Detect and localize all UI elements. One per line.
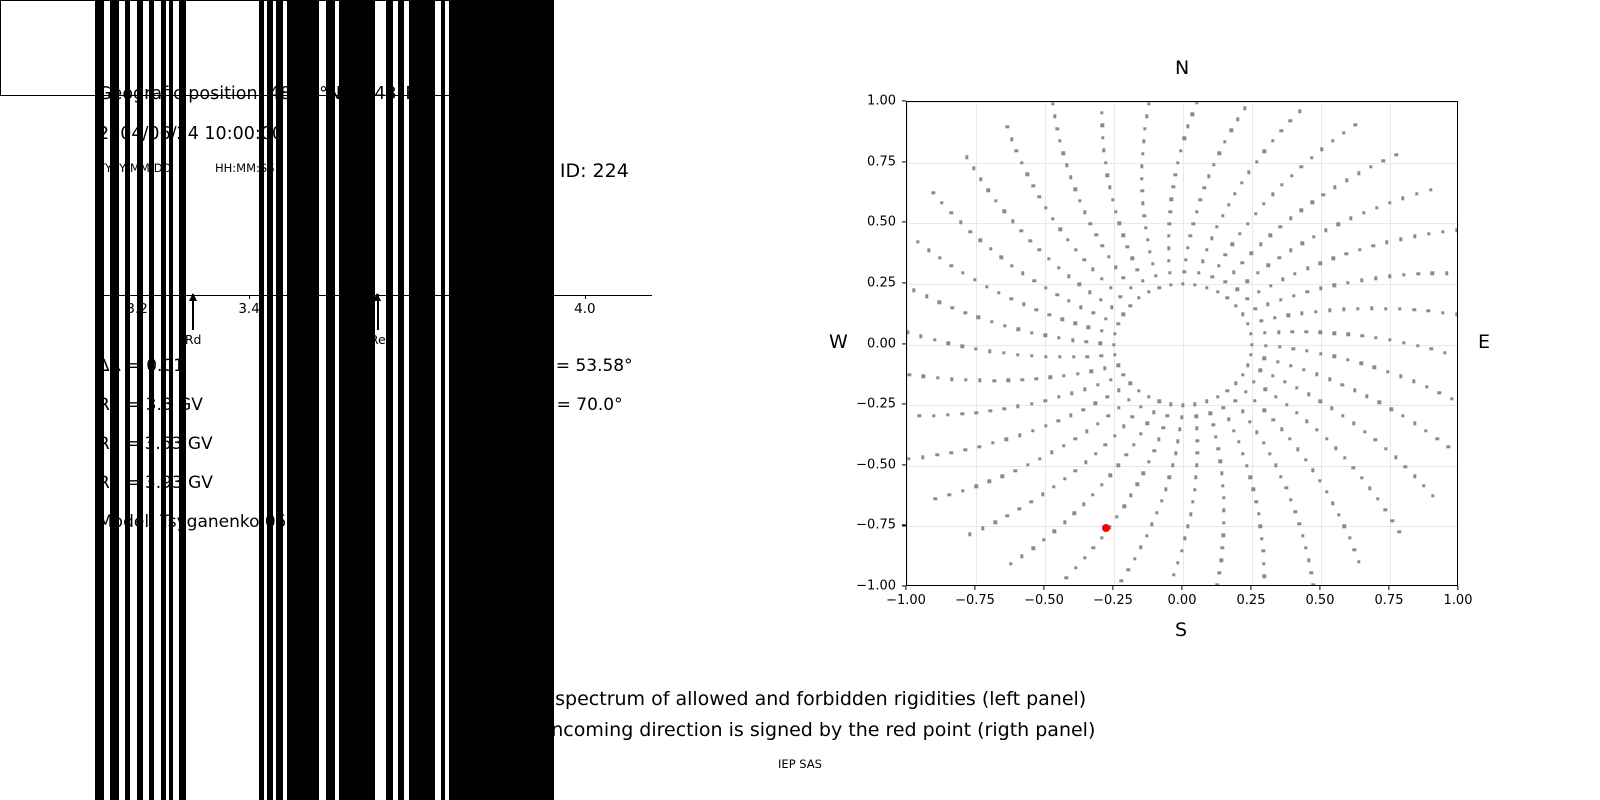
direction-point	[1307, 559, 1310, 562]
direction-point	[1305, 349, 1308, 352]
direction-point	[1227, 203, 1230, 206]
direction-point	[1394, 456, 1397, 459]
direction-point	[1057, 266, 1060, 269]
direction-point	[1224, 253, 1227, 256]
direction-point	[1102, 149, 1105, 152]
direction-point	[1289, 249, 1292, 252]
direction-point	[1183, 537, 1186, 540]
direction-point	[1186, 246, 1189, 249]
direction-point	[1180, 416, 1183, 419]
direction-point	[1232, 429, 1235, 432]
direction-point	[1038, 248, 1041, 251]
direction-point	[1147, 395, 1150, 398]
direction-point	[1237, 440, 1240, 443]
direction-point	[1168, 222, 1171, 225]
direction-point	[1183, 270, 1186, 273]
direction-point	[950, 377, 953, 380]
direction-point	[1223, 140, 1226, 143]
direction-point	[934, 497, 937, 500]
grid-line-vertical	[907, 102, 908, 585]
direction-point	[990, 320, 993, 323]
direction-point	[1011, 220, 1014, 223]
direction-point	[1117, 406, 1120, 409]
direction-point	[1445, 271, 1448, 274]
direction-point	[1341, 414, 1344, 417]
direction-point	[1370, 307, 1373, 310]
direction-point	[977, 316, 980, 319]
direction-point	[1248, 420, 1251, 423]
direction-point	[1041, 493, 1044, 496]
direction-point	[979, 178, 982, 181]
direction-point	[1215, 583, 1218, 586]
left-panel: Geografic position: 48.38°N 21.43°E 2004…	[0, 0, 800, 800]
direction-point	[1222, 534, 1225, 537]
direction-point	[1164, 487, 1167, 490]
direction-point	[1241, 452, 1244, 455]
direction-point	[1384, 307, 1387, 310]
rigidity-tick-label: 3.8	[462, 301, 483, 317]
direction-point	[1154, 274, 1157, 277]
direction-point	[1087, 326, 1090, 329]
footer-label: IEP SAS	[0, 757, 1600, 771]
rigidity-tick-label: 3.2	[126, 301, 147, 317]
direction-point	[1056, 127, 1059, 130]
direction-point	[1047, 257, 1050, 260]
direction-point	[1324, 229, 1327, 232]
direction-point	[1151, 262, 1154, 265]
direction-point	[1180, 549, 1183, 552]
direction-point	[1279, 225, 1282, 228]
direction-point	[1382, 159, 1385, 162]
direction-point	[1360, 476, 1363, 479]
direction-point	[1331, 139, 1334, 142]
direction-point	[1105, 395, 1108, 398]
direction-point	[1254, 500, 1257, 503]
direction-point	[1246, 364, 1249, 367]
direction-point	[1271, 193, 1274, 196]
direction-point	[927, 248, 930, 251]
direction-point	[1125, 453, 1128, 456]
direction-point	[1231, 243, 1234, 246]
direction-point	[964, 378, 967, 381]
forbidden-band	[276, 0, 283, 800]
direction-point	[1243, 106, 1246, 109]
direction-point	[1044, 206, 1047, 209]
direction-point	[1340, 383, 1343, 386]
y-tick-mark	[902, 525, 906, 526]
direction-point	[1121, 234, 1124, 237]
forbidden-band	[398, 0, 404, 800]
direction-point	[1152, 411, 1155, 414]
x-tick-mark	[905, 586, 906, 590]
direction-point	[1310, 156, 1313, 159]
direction-point	[1071, 338, 1074, 341]
direction-point	[1203, 186, 1206, 189]
direction-point	[1269, 234, 1272, 237]
direction-point	[1063, 521, 1066, 524]
x-tick-mark	[974, 586, 975, 590]
direction-point	[1150, 523, 1153, 526]
direction-point	[979, 239, 982, 242]
direction-point	[1253, 399, 1256, 402]
direction-point	[1402, 341, 1405, 344]
direction-point	[1141, 189, 1144, 192]
direction-point	[1044, 424, 1047, 427]
direction-point	[1348, 536, 1351, 539]
direction-point	[1148, 250, 1151, 253]
direction-point	[1245, 464, 1248, 467]
direction-point	[1304, 458, 1307, 461]
direction-point	[1289, 217, 1292, 220]
compass-label-east: E	[1478, 331, 1490, 353]
direction-point	[1246, 279, 1249, 282]
direction-point	[977, 445, 980, 448]
direction-point	[1416, 344, 1419, 347]
direction-point	[1155, 511, 1158, 514]
direction-point	[1162, 426, 1165, 429]
direction-point	[1413, 308, 1416, 311]
x-tick-label: 1.00	[1444, 593, 1473, 608]
direction-point	[1067, 299, 1070, 302]
direction-point	[916, 240, 919, 243]
direction-point	[1137, 296, 1140, 299]
direction-point	[1100, 329, 1103, 332]
direction-point	[1196, 439, 1199, 442]
direction-point	[1181, 282, 1184, 285]
direction-point	[1044, 286, 1047, 289]
direction-point	[1376, 497, 1379, 500]
direction-point	[1031, 429, 1034, 432]
direction-point	[1018, 507, 1021, 510]
direction-point	[1044, 355, 1047, 358]
direction-point	[1147, 290, 1150, 293]
direction-point	[1167, 234, 1170, 237]
direction-point	[1181, 403, 1184, 406]
direction-point	[1100, 124, 1103, 127]
y-tick-label: 1.00	[840, 94, 896, 109]
direction-point	[1349, 217, 1352, 220]
direction-point	[1179, 149, 1182, 152]
direction-point	[1140, 165, 1143, 168]
direction-point	[1074, 322, 1077, 325]
direction-point	[1359, 362, 1362, 365]
grid-line-horizontal	[907, 163, 1457, 164]
direction-point	[936, 453, 939, 456]
direction-point	[1074, 437, 1077, 440]
y-tick-label: 0.50	[840, 215, 896, 230]
direction-point	[1205, 286, 1208, 289]
x-tick-mark	[1319, 586, 1320, 590]
param-re: Re = 3.63 GV	[98, 434, 213, 454]
direction-point	[1218, 571, 1221, 574]
rigidity-marker-label: Ru	[538, 332, 554, 347]
direction-point	[1235, 288, 1238, 291]
direction-point	[1354, 123, 1357, 126]
direction-point	[1295, 386, 1298, 389]
grid-line-vertical	[1183, 102, 1184, 585]
direction-point	[1029, 239, 1032, 242]
direction-point	[1427, 309, 1430, 312]
direction-point	[1217, 447, 1220, 450]
rigidity-tick-label: 3.6	[350, 301, 371, 317]
forbidden-band	[259, 0, 264, 800]
direction-point	[981, 527, 984, 530]
direction-point	[1099, 298, 1102, 301]
direction-point	[1217, 264, 1220, 267]
direction-point	[1250, 252, 1253, 255]
direction-point	[1222, 406, 1225, 409]
direction-point	[1035, 308, 1038, 311]
x-tick-label: −0.50	[1024, 593, 1064, 608]
rigidity-tick-mark	[361, 295, 362, 299]
direction-point	[1109, 378, 1112, 381]
rigidity-marker-label: Rd	[185, 332, 202, 347]
direction-point	[1051, 102, 1054, 105]
y-tick-label: −1.00	[840, 579, 896, 594]
direction-point	[1086, 355, 1089, 358]
direction-point	[1264, 344, 1267, 347]
direction-point	[1044, 399, 1047, 402]
direction-point	[1158, 400, 1161, 403]
direction-point	[1072, 355, 1075, 358]
direction-point	[1259, 369, 1262, 372]
direction-point	[1280, 129, 1283, 132]
direction-point	[1005, 438, 1008, 441]
direction-point	[1146, 238, 1149, 241]
direction-point	[1100, 483, 1103, 486]
y-tick-mark	[902, 343, 906, 344]
direction-point	[1079, 306, 1082, 309]
direction-point	[1103, 367, 1106, 370]
direction-point	[1268, 452, 1271, 455]
direction-point	[1289, 364, 1292, 367]
direction-point	[1331, 501, 1334, 504]
direction-point	[1031, 546, 1034, 549]
direction-point	[1263, 387, 1266, 390]
direction-point	[1262, 562, 1265, 565]
direction-point	[1032, 279, 1035, 282]
y-tick-label: 0.00	[840, 336, 896, 351]
direction-point	[1100, 354, 1103, 357]
direction-point	[1300, 312, 1303, 315]
param-ru: Ru = 3.93 GV	[98, 473, 213, 493]
direction-point	[1195, 427, 1198, 430]
direction-point	[1280, 427, 1283, 430]
direction-point	[1096, 422, 1099, 425]
forbidden-band	[386, 0, 393, 800]
direction-point	[1184, 258, 1187, 261]
direction-point	[1241, 312, 1244, 315]
direction-point	[1305, 420, 1308, 423]
direction-point	[973, 278, 976, 281]
param-phi: φ = 70.0°	[540, 395, 623, 415]
direction-point	[1322, 193, 1325, 196]
direction-point	[1128, 304, 1131, 307]
rigidity-tick-label: 4.0	[574, 301, 595, 317]
direction-point	[1010, 264, 1013, 267]
direction-point	[1404, 465, 1407, 468]
direction-point	[907, 457, 910, 460]
direction-point	[1362, 211, 1365, 214]
x-tick-label: 0.50	[1306, 593, 1335, 608]
direction-point	[1016, 353, 1019, 356]
direction-point	[1074, 248, 1077, 251]
x-tick-label: 0.00	[1168, 593, 1197, 608]
direction-point	[1141, 279, 1144, 282]
right-panel: −1.00−0.75−0.50−0.250.000.250.500.751.00…	[800, 0, 1600, 800]
direction-point	[1017, 328, 1020, 331]
direction-point	[1099, 342, 1102, 345]
direction-point	[1402, 273, 1405, 276]
direction-point	[1263, 331, 1266, 334]
direction-point	[1447, 445, 1450, 448]
direction-point	[1126, 245, 1129, 248]
direction-point	[1192, 222, 1195, 225]
direction-point	[1129, 494, 1132, 497]
direction-point	[1260, 537, 1263, 540]
x-tick-mark	[1043, 586, 1044, 590]
direction-point	[1314, 310, 1317, 313]
direction-point	[1261, 549, 1264, 552]
direction-point	[1368, 486, 1371, 489]
direction-point	[1262, 575, 1265, 578]
direction-point	[1157, 437, 1160, 440]
direction-point	[1207, 175, 1210, 178]
grid-line-horizontal	[907, 466, 1457, 467]
direction-point	[1062, 444, 1065, 447]
direction-point	[950, 306, 953, 309]
direction-point	[1216, 290, 1219, 293]
direction-point	[1142, 140, 1145, 143]
direction-point	[1319, 331, 1322, 334]
direction-point	[1257, 290, 1260, 293]
incoming-direction-point	[1102, 524, 1110, 532]
direction-point	[975, 411, 978, 414]
direction-point	[1092, 311, 1095, 314]
direction-point	[1377, 401, 1380, 404]
direction-point	[1053, 114, 1056, 117]
direction-point	[1262, 202, 1265, 205]
direction-point	[1056, 293, 1059, 296]
direction-point	[1038, 457, 1041, 460]
direction-point	[918, 414, 921, 417]
direction-point	[1255, 430, 1258, 433]
direction-point	[1183, 137, 1186, 140]
direction-point	[1169, 403, 1172, 406]
direction-point	[974, 347, 977, 350]
direction-point	[1083, 211, 1086, 214]
grid-line-horizontal	[907, 345, 1457, 346]
direction-point	[1170, 198, 1173, 201]
direction-point	[1147, 102, 1150, 105]
direction-point	[965, 155, 968, 158]
direction-point	[1205, 400, 1208, 403]
direction-point	[1450, 397, 1453, 400]
direction-point	[1139, 405, 1142, 408]
direction-point	[1330, 407, 1333, 410]
direction-point	[1210, 237, 1213, 240]
direction-point	[1021, 272, 1024, 275]
forbidden-band	[409, 0, 436, 800]
direction-point	[1222, 521, 1225, 524]
grid-line-vertical	[1321, 102, 1322, 585]
direction-point	[1195, 101, 1198, 104]
direction-point	[1241, 261, 1244, 264]
direction-point	[961, 345, 964, 348]
param-delta-r: ∆R = 0.01	[98, 356, 184, 376]
direction-point	[1038, 195, 1041, 198]
direction-point	[906, 331, 909, 334]
direction-point	[989, 247, 992, 250]
direction-point	[950, 451, 953, 454]
x-tick-label: −0.25	[1093, 593, 1133, 608]
direction-point	[1219, 558, 1222, 561]
y-tick-mark	[902, 161, 906, 162]
direction-point	[1250, 343, 1253, 346]
direction-point	[1320, 147, 1323, 150]
direction-point	[1269, 284, 1272, 287]
direction-point	[1092, 546, 1095, 549]
direction-point	[1015, 149, 1018, 152]
direction-point	[1195, 451, 1198, 454]
direction-point	[936, 376, 939, 379]
direction-point	[1416, 272, 1419, 275]
direction-point	[1306, 267, 1309, 270]
direction-point	[1389, 407, 1392, 410]
direction-point	[1016, 405, 1019, 408]
direction-point	[1118, 222, 1121, 225]
direction-point	[1283, 380, 1286, 383]
direction-point	[1002, 351, 1005, 354]
direction-point	[1222, 496, 1225, 499]
direction-point	[1158, 286, 1161, 289]
direction-point	[1063, 477, 1066, 480]
direction-point	[1274, 463, 1277, 466]
forbidden-band	[287, 0, 319, 800]
direction-point	[1002, 209, 1005, 212]
direction-point	[1441, 230, 1444, 233]
x-tick-label: 0.25	[1237, 593, 1266, 608]
direction-point	[1353, 548, 1356, 551]
direction-point	[1457, 355, 1458, 358]
direction-point	[1020, 161, 1023, 164]
direction-point	[946, 413, 949, 416]
direction-point	[1221, 214, 1224, 217]
direction-point	[1058, 139, 1061, 142]
param-rd: Rd = 3.3 GV	[98, 395, 203, 415]
direction-point	[1145, 534, 1148, 537]
direction-point	[1280, 183, 1283, 186]
direction-point	[1065, 576, 1068, 579]
direction-point	[1240, 181, 1243, 184]
direction-point	[1388, 275, 1391, 278]
direction-point	[1048, 313, 1051, 316]
direction-point	[1062, 152, 1065, 155]
direction-point	[1083, 387, 1086, 390]
x-tick-mark	[1388, 586, 1389, 590]
direction-point	[1020, 229, 1023, 232]
direction-point	[1176, 561, 1179, 564]
direction-point	[1085, 430, 1088, 433]
direction-point	[1222, 509, 1225, 512]
direction-point	[1107, 255, 1110, 258]
rigidity-tick-mark	[473, 295, 474, 299]
direction-point	[1026, 463, 1029, 466]
direction-point	[1090, 369, 1093, 372]
direction-point	[1385, 241, 1388, 244]
direction-point	[1069, 176, 1072, 179]
direction-point	[1363, 430, 1366, 433]
